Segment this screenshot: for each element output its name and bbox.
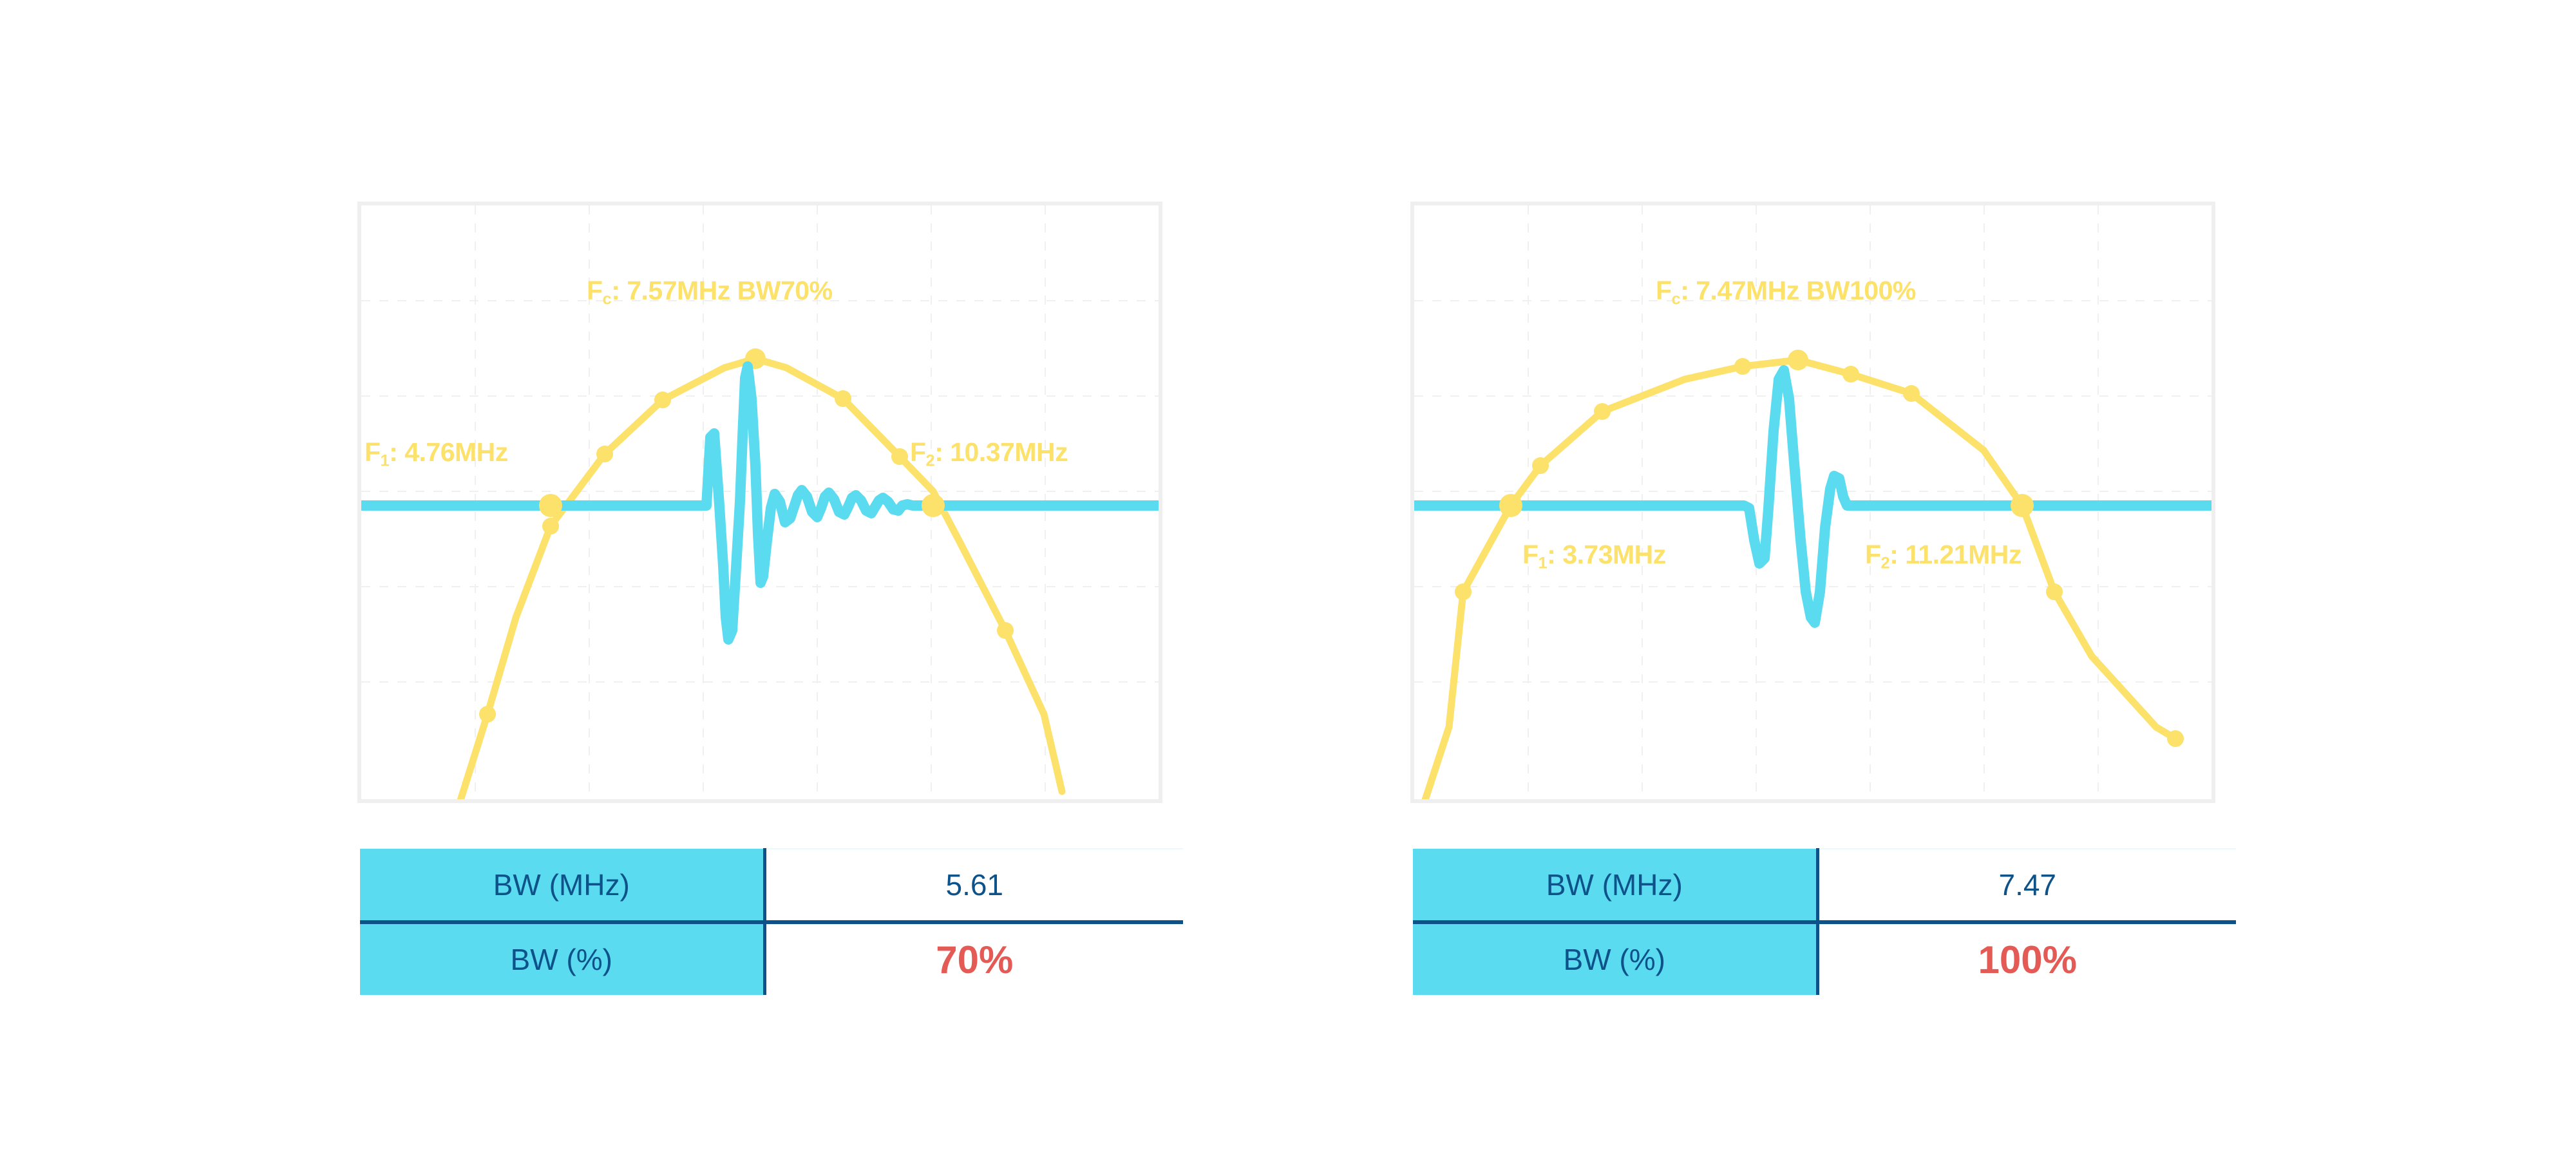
- f1-text: : 4.76MHz: [389, 437, 508, 467]
- fc-text: : 7.47MHz BW100%: [1680, 276, 1916, 305]
- fc-subscript: c: [1672, 290, 1681, 308]
- f1-marker: [539, 494, 562, 517]
- center-frequency-label: Fc: 7.47MHz BW100%: [1656, 278, 1916, 308]
- fc-symbol: Fc: [587, 276, 611, 305]
- plot-area-broadband: Fc: 7.47MHz BW100% F1: 3.73MHz F2: 11.21…: [1410, 202, 2215, 803]
- fc-text: : 7.57MHz BW70%: [611, 276, 832, 305]
- f2-marker: [922, 494, 945, 517]
- bw-percent-value: 70%: [764, 922, 1183, 995]
- upper-frequency-label: F2: 10.37MHz: [910, 439, 1068, 469]
- f2-text: : 11.21MHz: [1889, 540, 2022, 569]
- panel-narrowband: Fc: 7.57MHz BW70% F1: 4.76MHz F2: 10.37M…: [357, 202, 1162, 803]
- center-frequency-label: Fc: 7.57MHz BW70%: [587, 278, 833, 308]
- f2-symbol: F2: [910, 437, 934, 467]
- bw-mhz-value: 7.47: [1817, 849, 2236, 922]
- lower-frequency-label: F1: 4.76MHz: [365, 439, 508, 469]
- f2-subscript: 2: [1881, 554, 1890, 572]
- f2-marker: [2011, 494, 2034, 517]
- bandwidth-table-narrowband: BW (MHz) 5.61 BW (%) 70%: [360, 848, 1183, 995]
- f1-subscript: 1: [381, 452, 390, 470]
- f2-text: : 10.37MHz: [934, 437, 1068, 467]
- pulse-waveform: [1414, 370, 2211, 623]
- bw-mhz-label: BW (MHz): [1413, 849, 1817, 922]
- pulse-waveform: [361, 366, 1159, 639]
- f1-text: : 3.73MHz: [1547, 540, 1666, 569]
- upper-frequency-label: F2: 11.21MHz: [1865, 542, 2022, 572]
- fc-symbol: Fc: [1656, 276, 1680, 305]
- f1-marker: [1499, 494, 1522, 517]
- table-row: BW (MHz) 7.47: [1413, 849, 2236, 922]
- bandwidth-table-broadband: BW (MHz) 7.47 BW (%) 100%: [1413, 848, 2236, 995]
- bw-mhz-value: 5.61: [764, 849, 1183, 922]
- lower-frequency-label: F1: 3.73MHz: [1522, 542, 1666, 572]
- bw-percent-label: BW (%): [360, 922, 764, 995]
- bw-percent-label: BW (%): [1413, 922, 1817, 995]
- table-row: BW (%) 100%: [1413, 922, 2236, 995]
- screenshot-stage: Fc: 7.57MHz BW70% F1: 4.76MHz F2: 10.37M…: [0, 0, 2576, 1154]
- table-row: BW (%) 70%: [360, 922, 1183, 995]
- bw-percent-value: 100%: [1817, 922, 2236, 995]
- f1-symbol: F1: [365, 437, 389, 467]
- plot-area-narrowband: Fc: 7.57MHz BW70% F1: 4.76MHz F2: 10.37M…: [357, 202, 1162, 803]
- f2-symbol: F2: [1865, 540, 1889, 569]
- fc-subscript: c: [603, 290, 612, 308]
- bw-mhz-label: BW (MHz): [360, 849, 764, 922]
- f1-subscript: 1: [1539, 554, 1548, 572]
- f2-subscript: 2: [926, 452, 935, 470]
- f1-symbol: F1: [1522, 540, 1547, 569]
- table-row: BW (MHz) 5.61: [360, 849, 1183, 922]
- panel-broadband: Fc: 7.47MHz BW100% F1: 3.73MHz F2: 11.21…: [1410, 202, 2215, 803]
